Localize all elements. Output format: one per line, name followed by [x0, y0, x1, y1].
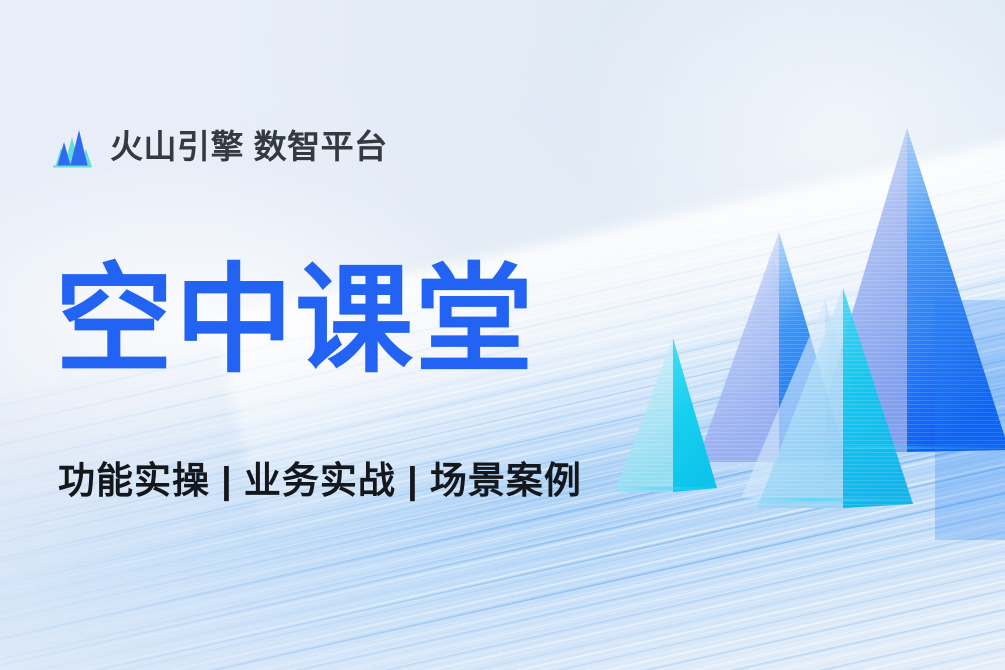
page-title: 空中课堂 — [55, 262, 535, 380]
brand-name: 火山引擎 数智平台 — [110, 130, 388, 163]
page-subtitle: 功能实操 | 业务实战 | 场景案例 — [58, 450, 582, 504]
volcano-mountain-logo-icon — [48, 124, 96, 168]
brand-row: 火山引擎 数智平台 — [48, 124, 388, 168]
poster-canvas: 火山引擎 数智平台 空中课堂 功能实操 | 业务实战 | 场景案例 — [0, 0, 1005, 670]
